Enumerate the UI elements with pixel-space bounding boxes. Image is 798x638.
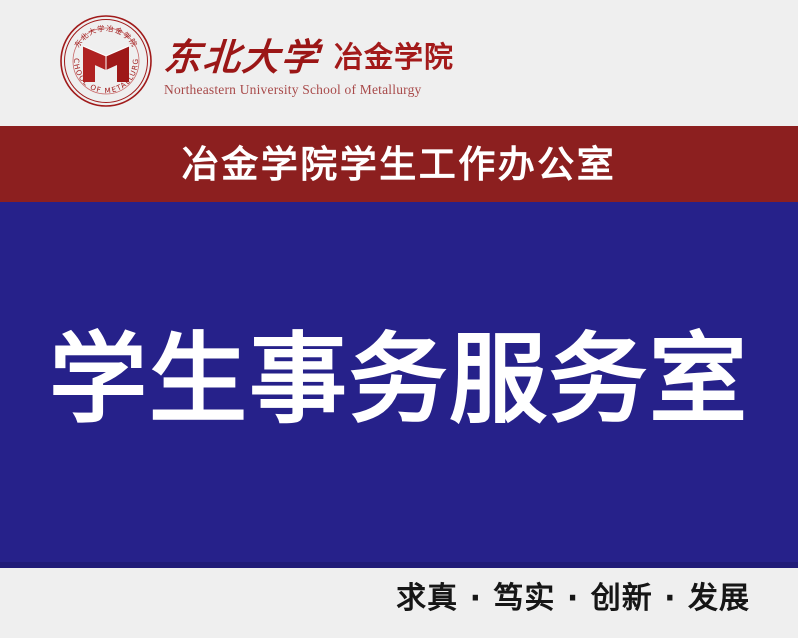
wordmark: 东北大学 冶金学院 Northeastern University School…: [164, 23, 454, 99]
logo-lockup: 东北大学冶金学院 SCHOOL OF METALLURGY 东北大学: [58, 13, 454, 109]
page-title: 学生事务服务室: [49, 329, 749, 432]
header-bar: 东北大学冶金学院 SCHOOL OF METALLURGY 东北大学: [0, 0, 798, 126]
poster-root: 东北大学冶金学院 SCHOOL OF METALLURGY 东北大学: [0, 0, 798, 638]
red-band-title: 冶金学院学生工作办公室: [182, 146, 617, 183]
svg-text:东北大学冶金学院: 东北大学冶金学院: [73, 24, 140, 50]
main-title-wrap: 学生事务服务室: [0, 202, 798, 562]
metallurgy-school-seal-icon: 东北大学冶金学院 SCHOOL OF METALLURGY: [58, 13, 154, 109]
red-band: 冶金学院学生工作办公室: [0, 126, 798, 202]
university-name-cn: 东北大学: [162, 35, 321, 79]
footer-bar: 求真 · 笃实 · 创新 · 发展: [0, 568, 798, 638]
blue-panel: 学生事务服务室: [0, 202, 798, 568]
wordmark-row: 东北大学 冶金学院: [164, 27, 454, 79]
motto-text: 求真 · 笃实 · 创新 · 发展: [396, 584, 750, 614]
college-name-cn: 冶金学院: [334, 37, 454, 77]
full-name-en: Northeastern University School of Metall…: [164, 81, 454, 99]
